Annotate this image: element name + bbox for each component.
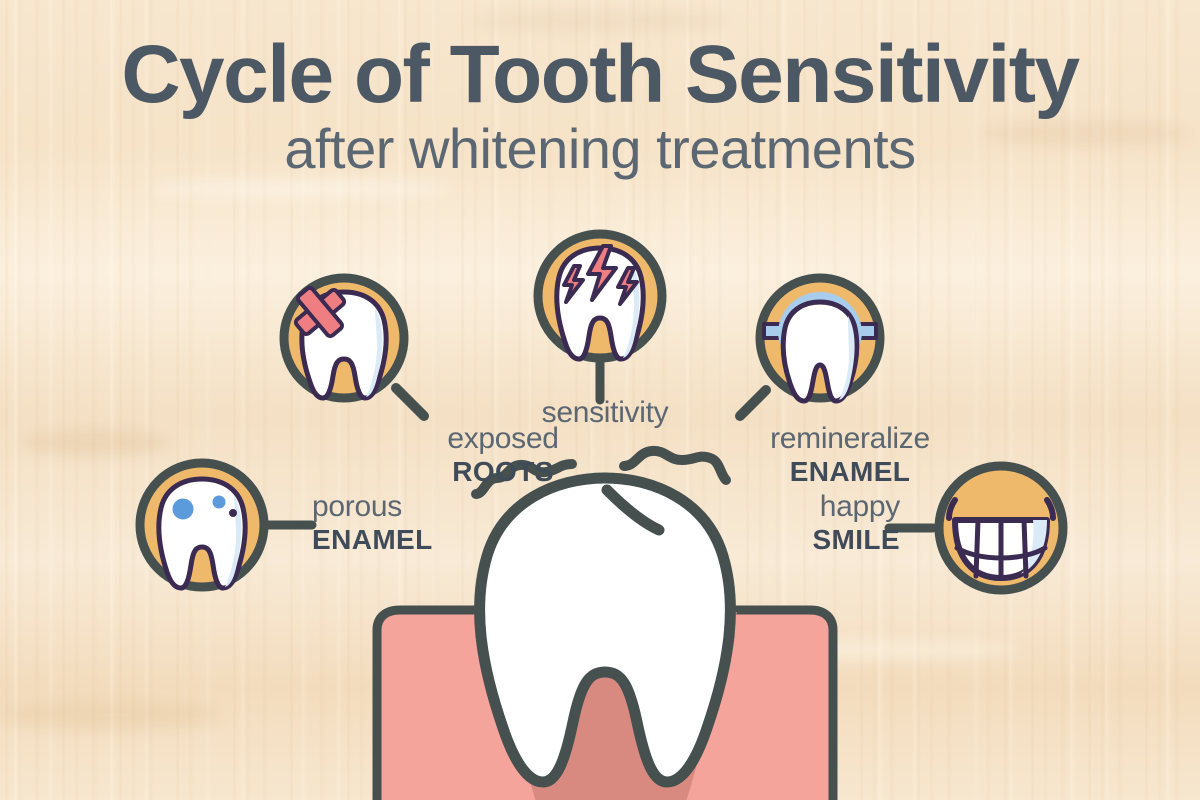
badge-remineralize-enamel[interactable]	[718, 272, 923, 437]
pore-small	[229, 509, 237, 517]
label-porous-enamel: porous ENAMEL	[312, 492, 492, 554]
header: Cycle of Tooth Sensitivity after whiteni…	[0, 36, 1200, 179]
infographic-canvas: Cycle of Tooth Sensitivity after whiteni…	[0, 0, 1200, 800]
badge-exposed-roots[interactable]	[278, 272, 438, 432]
label-exposed-roots: exposed ROOTS	[338, 424, 668, 486]
label-line-2: ROOTS	[338, 458, 668, 486]
label-line-1: happy	[740, 492, 900, 522]
label-line-1: remineralize	[700, 424, 1000, 454]
label-line-1: porous	[312, 492, 492, 522]
page-subtitle: after whitening treatments	[0, 120, 1200, 179]
label-happy-smile: happy SMILE	[740, 492, 900, 554]
label-line-2: SMILE	[740, 526, 900, 554]
magnifier-handle	[396, 388, 424, 416]
badge-happy-smile[interactable]	[885, 458, 1075, 598]
magnifier-handle	[740, 390, 766, 416]
pore-medium	[211, 494, 227, 510]
badge-porous-enamel[interactable]	[130, 455, 315, 595]
badge-sensitivity[interactable]	[528, 228, 678, 408]
page-title: Cycle of Tooth Sensitivity	[0, 36, 1200, 114]
pore-large	[171, 497, 195, 521]
label-line-2: ENAMEL	[312, 526, 492, 554]
